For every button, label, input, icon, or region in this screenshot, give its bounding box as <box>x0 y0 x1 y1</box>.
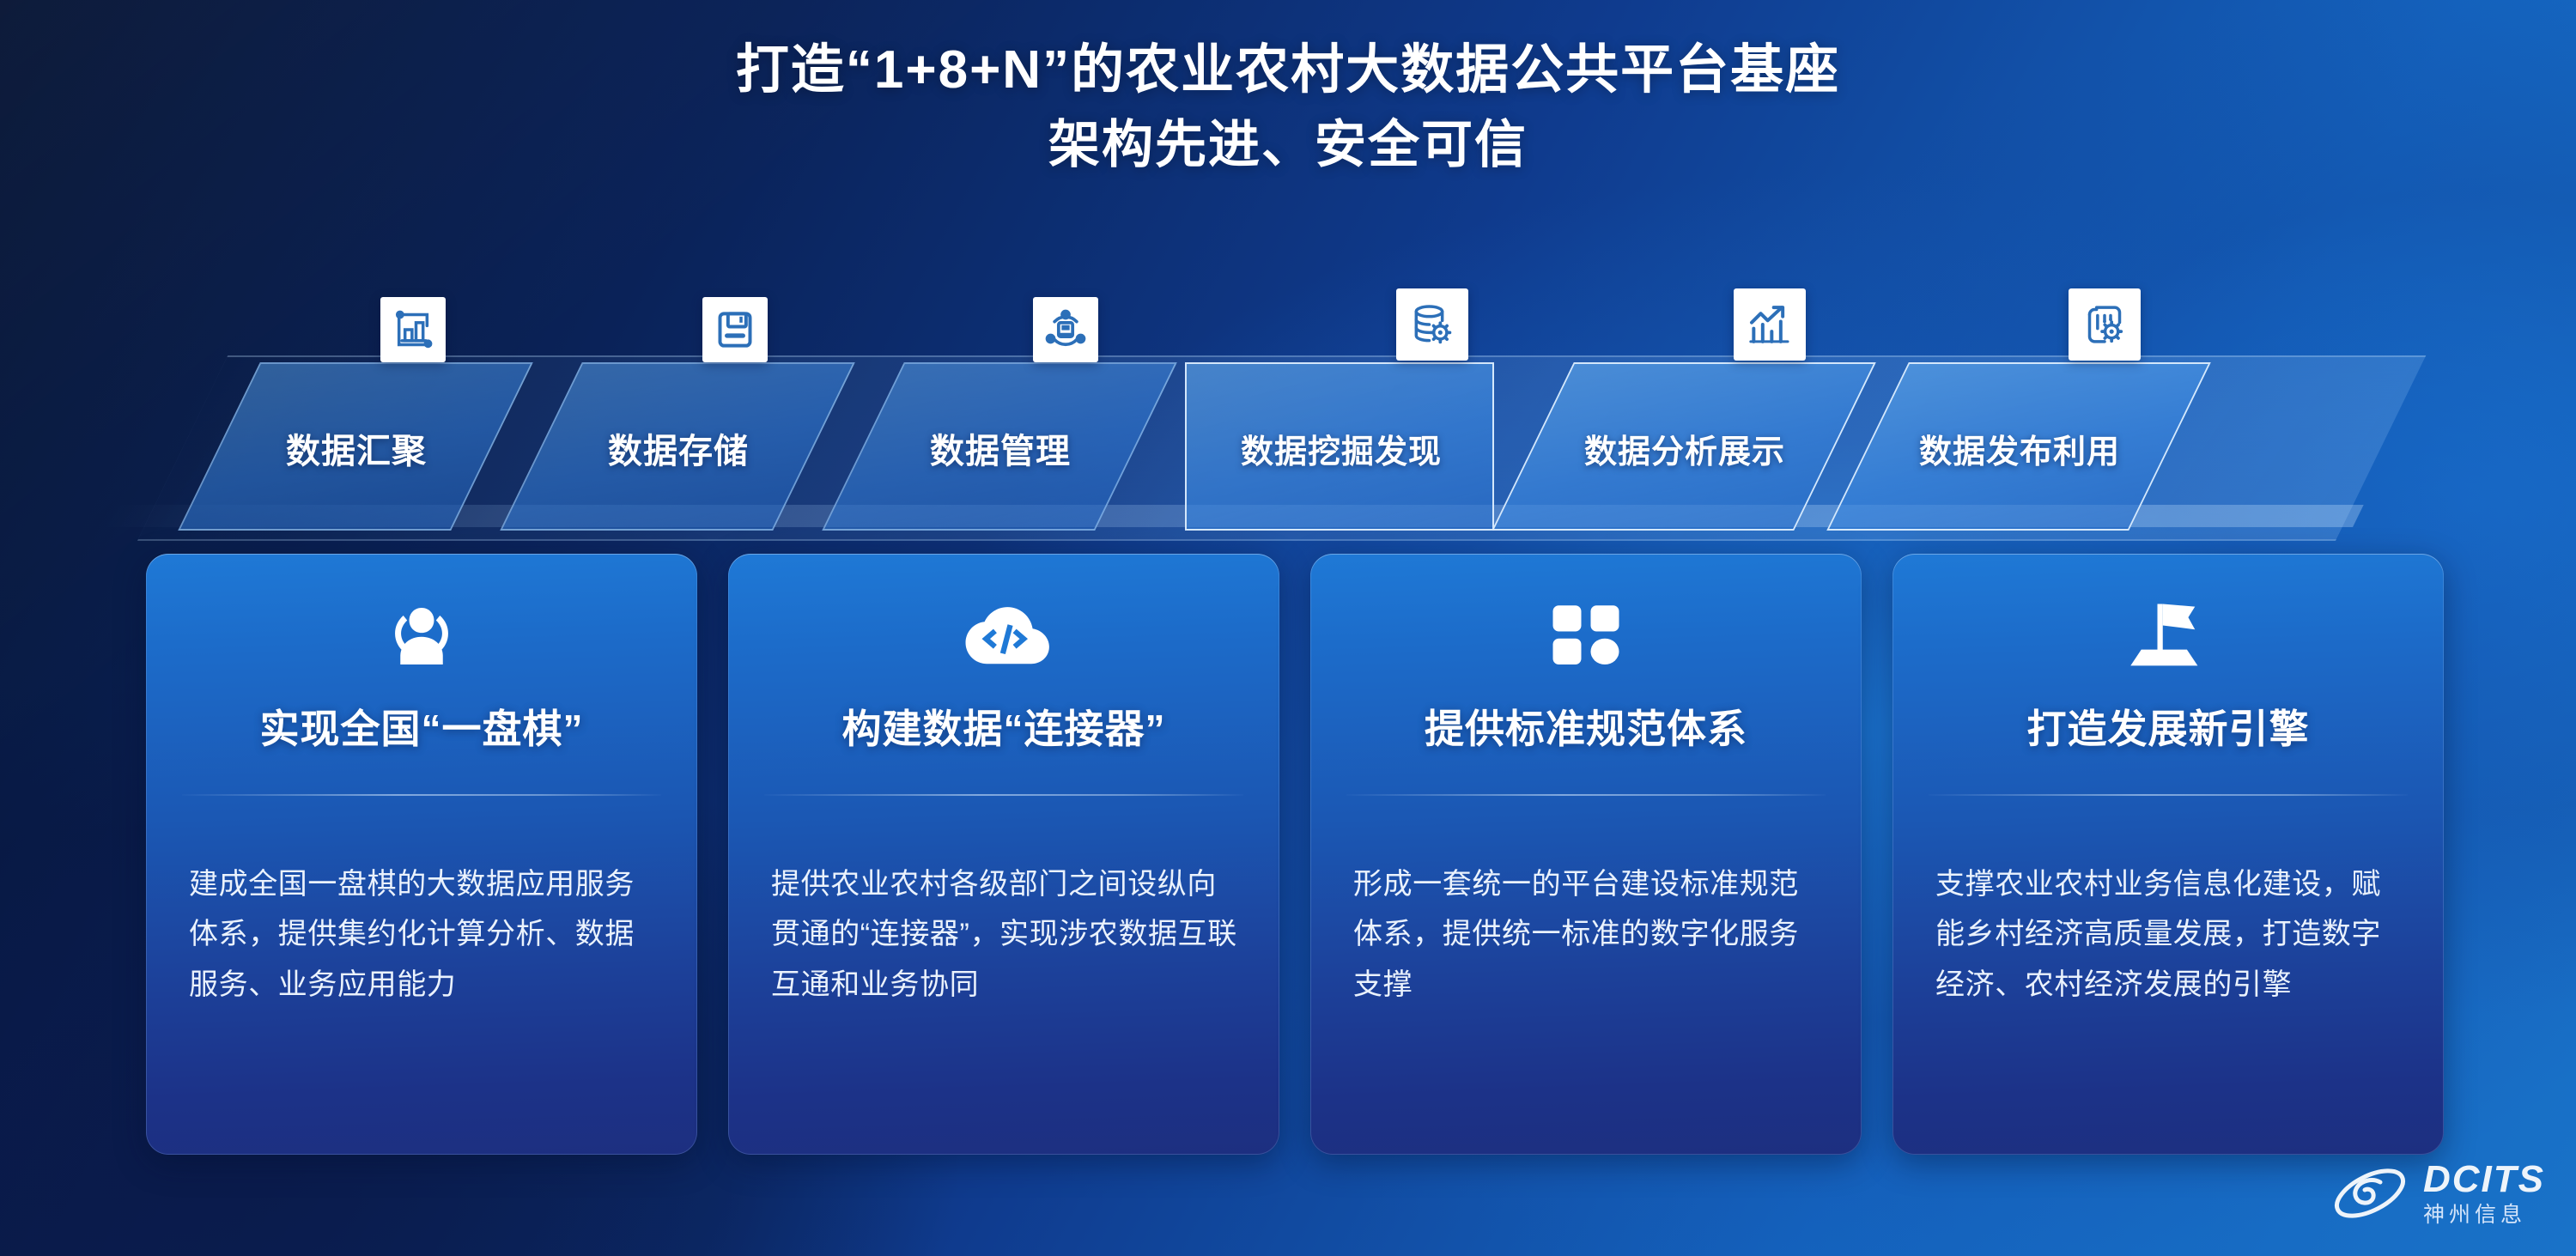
card-title: 打造发展新引擎 <box>1893 698 2444 755</box>
band-item-data-storage[interactable]: 数据存储 <box>500 362 855 531</box>
floppy-disk-icon <box>702 297 768 362</box>
people-group-icon <box>146 598 697 674</box>
network-nodes-icon <box>1033 297 1098 362</box>
band-item-label: 数据挖掘发现 <box>1187 364 1496 532</box>
trend-bars-icon <box>1734 288 1806 361</box>
value-cards-row: 实现全国“一盘棋” 建成全国一盘棋的大数据应用服务体系，提供集约化计算分析、数据… <box>0 554 2576 1155</box>
cloud-code-icon <box>728 598 1279 674</box>
capability-band: 数据汇聚 数据存储 数据管理 <box>0 283 2576 541</box>
card-body: 支撑农业农村业务信息化建设，赋能乡村经济高质量发展，打造数字经济、农村经济发展的… <box>1935 859 2406 1010</box>
card-title: 构建数据“连接器” <box>728 698 1279 755</box>
logo-text: DCITS 神州信息 <box>2423 1161 2545 1226</box>
value-card-new-engine[interactable]: 打造发展新引擎 支撑农业农村业务信息化建设，赋能乡村经济高质量发展，打造数字经济… <box>1893 554 2444 1155</box>
title-line-1: 打造“1+8+N”的农业农村大数据公共平台基座 <box>0 33 2576 108</box>
band-item-label: 数据分析展示 <box>1534 364 1836 532</box>
band-item-label: 数据汇聚 <box>220 364 493 532</box>
band-item-label: 数据存储 <box>542 364 815 532</box>
band-item-data-mining[interactable]: 数据挖掘发现 <box>1185 362 1494 531</box>
bars-gear-frame-icon <box>2069 288 2141 361</box>
band-item-data-management[interactable]: 数据管理 <box>822 362 1177 531</box>
card-divider <box>1929 794 2408 796</box>
card-title: 实现全国“一盘棋” <box>146 698 697 755</box>
value-card-standard-system[interactable]: 提供标准规范体系 形成一套统一的平台建设标准规范体系，提供统一标准的数字化服务支… <box>1310 554 1862 1155</box>
four-blocks-icon <box>1310 598 1862 674</box>
band-item-label: 数据管理 <box>864 364 1137 532</box>
band-item-data-aggregation[interactable]: 数据汇聚 <box>178 362 533 531</box>
band-item-data-publishing[interactable]: 数据发布利用 <box>1826 362 2211 531</box>
flag-icon <box>1893 598 2444 674</box>
band-item-label: 数据发布利用 <box>1868 364 2171 532</box>
card-divider <box>764 794 1243 796</box>
band-item-data-analysis[interactable]: 数据分析展示 <box>1492 362 1876 531</box>
logo-name-cn: 神州信息 <box>2423 1204 2545 1226</box>
card-divider <box>1346 794 1826 796</box>
card-title: 提供标准规范体系 <box>1310 698 1862 755</box>
slide-canvas: 打造“1+8+N”的农业农村大数据公共平台基座 架构先进、安全可信 数据汇聚 数… <box>0 0 2576 1256</box>
page-title: 打造“1+8+N”的农业农村大数据公共平台基座 架构先进、安全可信 <box>0 33 2576 181</box>
card-divider <box>182 794 661 796</box>
value-card-data-connector[interactable]: 构建数据“连接器” 提供农业农村各级部门之间设纵向贯通的“连接器”，实现涉农数据… <box>728 554 1279 1155</box>
title-line-2: 架构先进、安全可信 <box>0 108 2576 181</box>
swirl-ellipse-logo-icon <box>2329 1160 2411 1227</box>
company-logo: DCITS 神州信息 <box>2329 1160 2545 1227</box>
bar-chart-frame-icon <box>380 297 446 362</box>
card-body: 建成全国一盘棋的大数据应用服务体系，提供集约化计算分析、数据服务、业务应用能力 <box>189 859 659 1010</box>
database-gear-icon <box>1396 288 1468 361</box>
value-card-national-chess[interactable]: 实现全国“一盘棋” 建成全国一盘棋的大数据应用服务体系，提供集约化计算分析、数据… <box>146 554 697 1155</box>
logo-name-en: DCITS <box>2423 1161 2545 1198</box>
card-body: 形成一套统一的平台建设标准规范体系，提供统一标准的数字化服务支撑 <box>1353 859 1824 1010</box>
card-body: 提供农业农村各级部门之间设纵向贯通的“连接器”，实现涉农数据互联互通和业务协同 <box>771 859 1242 1010</box>
